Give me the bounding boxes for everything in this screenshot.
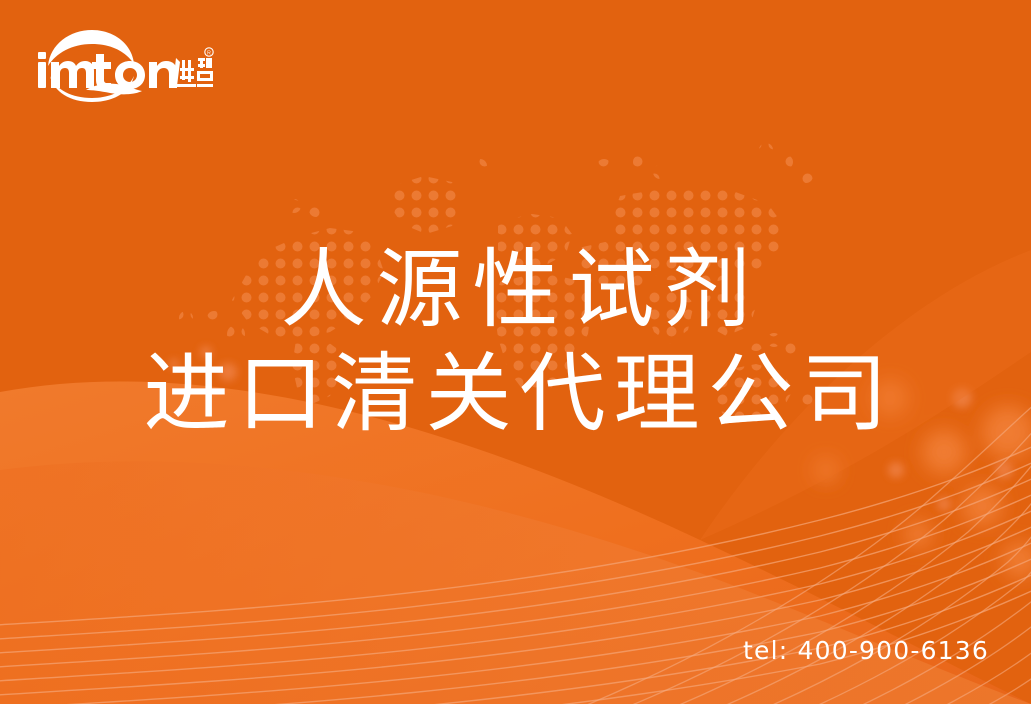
- headline-block: 人源性试剂 进口清关代理公司: [0, 238, 1031, 446]
- globe-dove-mark: R: [34, 28, 214, 102]
- brand-logo[interactable]: R: [34, 28, 214, 102]
- promo-banner: R 人源性试剂 进口清关代理公司 tel: 400-900-6136: [0, 0, 1031, 704]
- headline-line-1: 人源性试剂: [0, 238, 1031, 342]
- headline-line-2: 进口清关代理公司: [0, 342, 1031, 446]
- svg-text:R: R: [207, 51, 211, 57]
- contact-phone[interactable]: tel: 400-900-6136: [743, 636, 989, 665]
